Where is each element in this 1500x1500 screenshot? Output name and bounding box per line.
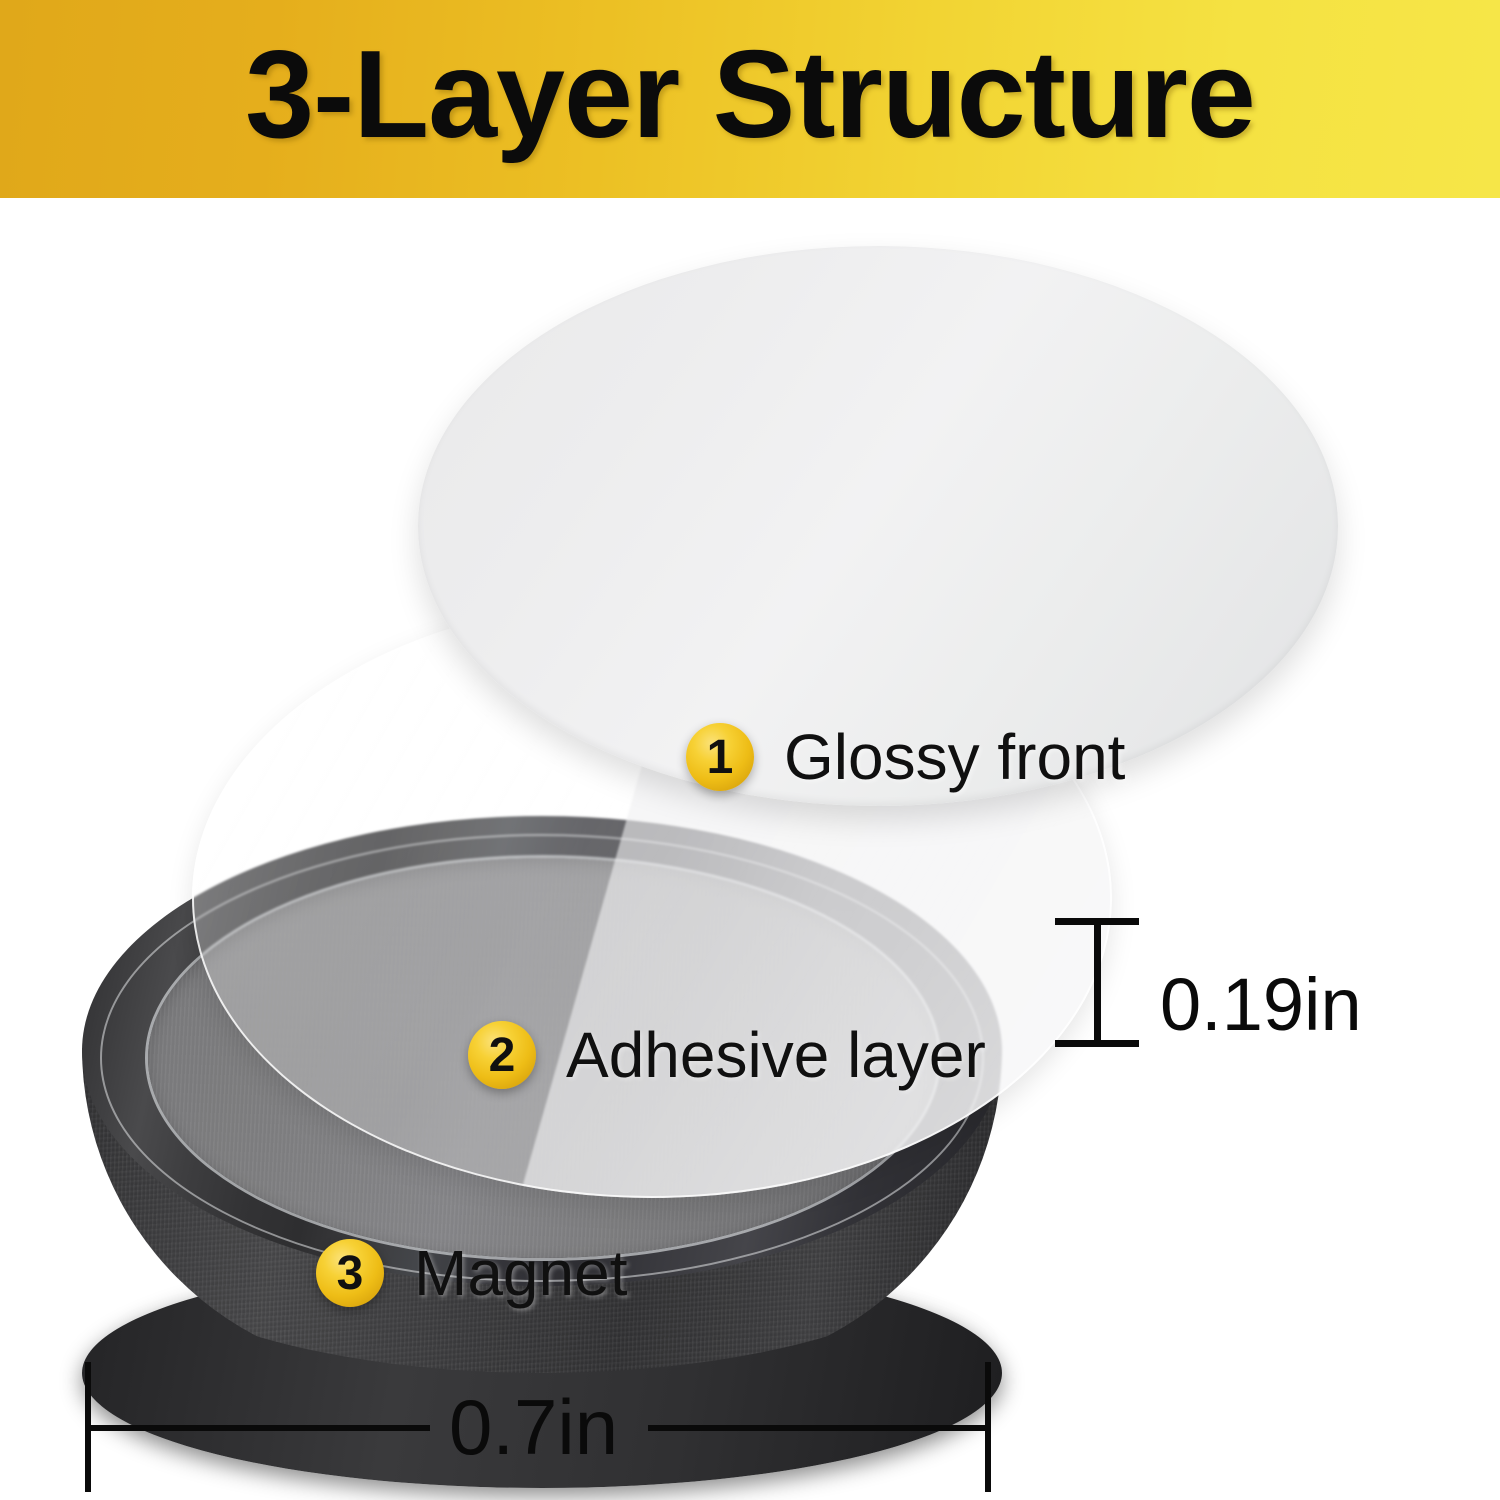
width-dimension-label: 0.7in <box>449 1382 618 1473</box>
height-dimension-label: 0.19in <box>1160 962 1362 1047</box>
width-dimension-left-segment <box>85 1425 430 1431</box>
layer-number-badge-2: 2 <box>468 1021 536 1089</box>
layer-structure-infographic: 3-Layer Structure 1 Glossy front 2 Adhes… <box>0 0 1500 1500</box>
layer-callout-adhesive-layer: 2 Adhesive layer <box>468 1018 986 1092</box>
height-dimension-bottom-tick <box>1055 1040 1139 1047</box>
layer-callout-glossy-front: 1 Glossy front <box>686 720 1125 794</box>
header-banner: 3-Layer Structure <box>0 0 1500 198</box>
layer-number-badge-3: 3 <box>316 1239 384 1307</box>
height-dimension-stem <box>1094 918 1101 1047</box>
layer-label-3: Magnet <box>414 1236 627 1310</box>
width-dimension-right-segment <box>648 1425 991 1431</box>
diagram-stage: 1 Glossy front 2 Adhesive layer 3 Magnet <box>0 198 1500 1500</box>
layer-label-2: Adhesive layer <box>566 1018 986 1092</box>
layer-callout-magnet: 3 Magnet <box>316 1236 627 1310</box>
layer-label-1: Glossy front <box>784 720 1125 794</box>
page-title: 3-Layer Structure <box>0 0 1500 194</box>
layer-number-badge-1: 1 <box>686 723 754 791</box>
